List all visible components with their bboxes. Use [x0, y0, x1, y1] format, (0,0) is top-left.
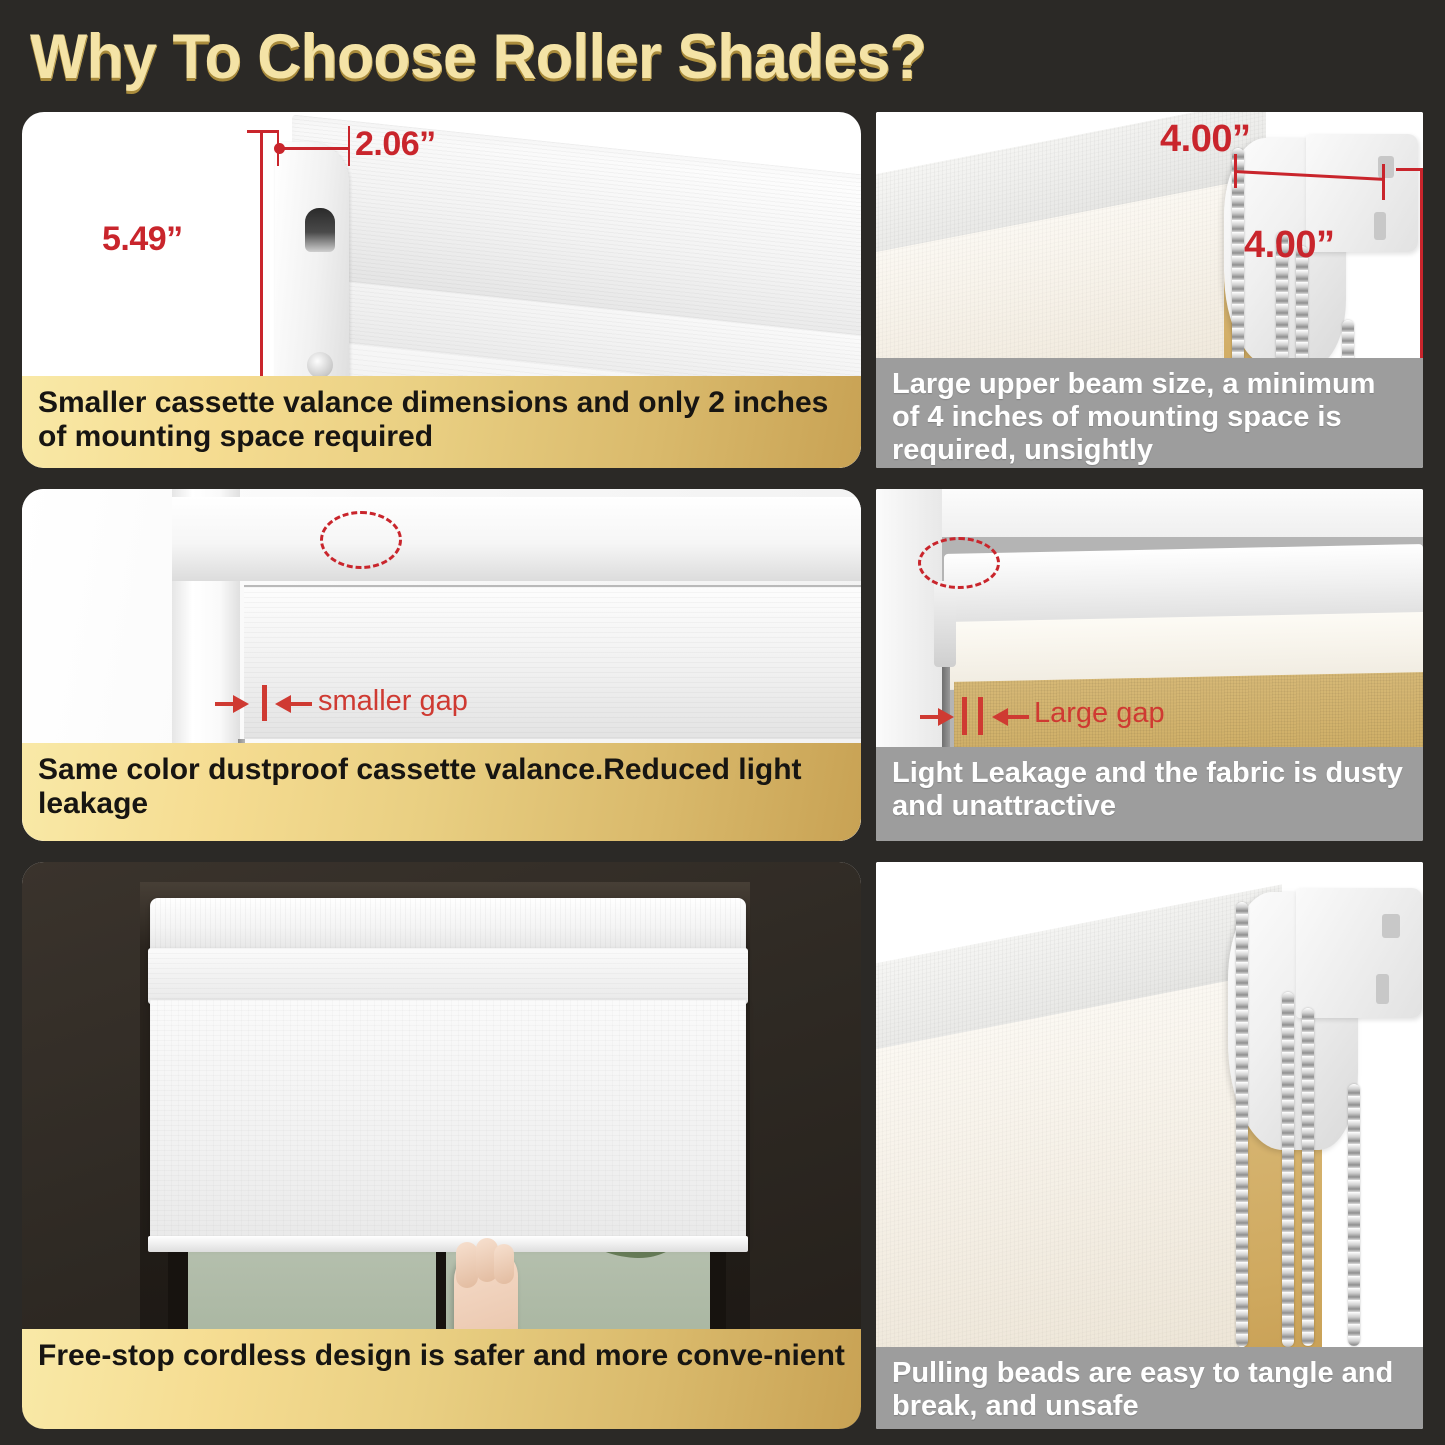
gap-arrow-tail-right [290, 702, 312, 706]
panel-1-smaller-cassette: 2.06” 5.49” Smaller cassette valance dim… [22, 112, 861, 468]
panel-4-light-leakage: Large gap Light Leakage and the fabric i… [876, 489, 1423, 841]
gap-label-smaller: smaller gap [318, 685, 468, 718]
dimension-label-height: 5.49” [102, 220, 183, 259]
mounting-notch-1 [1378, 156, 1394, 178]
infographic-root: Why To Choose Roller Shades? 2.06” 5.49”… [0, 0, 1445, 1445]
gap-arrow-tail-left [215, 702, 235, 706]
dimension-label-beam-height: 4.00” [1244, 224, 1334, 267]
panel-4-caption: Light Leakage and the fabric is dusty an… [876, 747, 1423, 841]
bead-chain-4 [1348, 1084, 1360, 1346]
gap-marker-bar [262, 685, 267, 721]
window-frame-header [172, 497, 861, 581]
panel-6-image [876, 862, 1423, 1429]
panel-5-caption: Free-stop cordless design is safer and m… [22, 1329, 861, 1429]
gap-arrow-right-icon [938, 708, 954, 726]
bead-chain-1 [1236, 902, 1248, 1347]
panel-3-dustproof-valance: smaller gap Same color dustproof cassett… [22, 489, 861, 841]
panel-6-pulling-beads: Pulling beads are easy to tangle and bre… [876, 862, 1423, 1429]
gap-marker-bar-2 [978, 697, 983, 735]
panel-6-caption: Pulling beads are easy to tangle and bre… [876, 1347, 1423, 1429]
valance-slot [305, 208, 335, 252]
panel-5-cordless-design: Free-stop cordless design is safer and m… [22, 862, 861, 1429]
panel-1-caption: Smaller cassette valance dimensions and … [22, 376, 861, 468]
ceiling-strip [876, 489, 1423, 537]
gap-arrow-right-icon [233, 695, 249, 713]
mounting-clip [934, 581, 956, 667]
panel-3-caption: Same color dustproof cassette valance.Re… [22, 743, 861, 841]
finger-index [456, 1242, 478, 1288]
gap-marker-bar-1 [962, 697, 967, 735]
dim-line-width [277, 147, 350, 150]
gap-arrow-left-icon [275, 695, 291, 713]
highlight-circle-icon [320, 511, 402, 569]
dim-line-beam-height [1420, 168, 1423, 364]
dim-tick-right-top [348, 126, 350, 166]
dimension-label-width: 2.06” [355, 125, 436, 164]
panel-2-caption: Large upper beam size, a minimum of 4 in… [876, 358, 1423, 468]
gap-arrow-tail-left [920, 715, 940, 719]
shade-valance [148, 948, 748, 1004]
shade-bottom-rail [148, 1236, 748, 1252]
valance-screw [307, 352, 333, 378]
bead-chain-3 [1302, 1008, 1314, 1346]
gap-arrow-tail-right [1007, 715, 1029, 719]
finger-ring [494, 1244, 514, 1284]
mounting-notch-2 [1376, 974, 1389, 1004]
dim-tick-beam-top [1396, 168, 1423, 171]
dim-tick-beam-right [1382, 164, 1385, 200]
page-title: Why To Choose Roller Shades? [30, 18, 1030, 96]
gap-arrow-left-icon [992, 708, 1008, 726]
bead-chain-2 [1282, 992, 1294, 1347]
mounting-notch-2 [1374, 212, 1386, 240]
panel-2-large-upper-beam: 4.00” 4.00” Large upper beam size, a min… [876, 112, 1423, 468]
mounting-notch-1 [1382, 914, 1400, 938]
dim-tick-top [247, 130, 277, 133]
dim-dot-width [274, 143, 285, 154]
dimension-label-beam-width: 4.00” [1160, 118, 1250, 161]
shade-panel [150, 1000, 746, 1244]
roller-mounting-plate [1296, 888, 1422, 1018]
gap-label-large: Large gap [1034, 697, 1165, 730]
page-title-text: Why To Choose Roller Shades? [30, 21, 926, 93]
highlight-circle-icon [918, 537, 1000, 589]
